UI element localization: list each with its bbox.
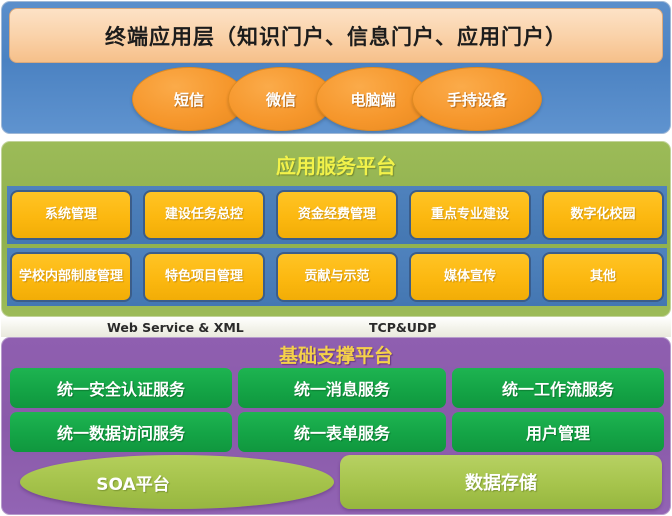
infrastructure-data-storage[interactable]: 数据存储 (340, 455, 662, 509)
service-unified-form[interactable]: 统一表单服务 (238, 412, 446, 452)
channel-wechat-label: 微信 (266, 89, 296, 110)
protocol-web-service-xml: Web Service & XML (107, 320, 244, 335)
module-key-specialty-construction[interactable]: 重点专业建设 (409, 190, 531, 240)
module-label: 贡献与示范 (304, 269, 369, 284)
channel-desktop-label: 电脑端 (350, 89, 395, 110)
channel-handheld[interactable]: 手持设备 (412, 67, 542, 131)
module-system-management[interactable]: 系统管理 (10, 190, 132, 240)
channel-sms-label: 短信 (174, 89, 204, 110)
service-label: 统一工作流服务 (502, 376, 614, 400)
service-label: 统一消息服务 (294, 376, 390, 400)
application-module-row-1: 系统管理 建设任务总控 资金经费管理 重点专业建设 数字化校园 (7, 186, 667, 244)
module-others[interactable]: 其他 (542, 252, 664, 302)
service-unified-workflow[interactable]: 统一工作流服务 (452, 368, 664, 408)
base-platform-title: 基础支撑平台 (2, 341, 670, 368)
service-unified-security-authentication[interactable]: 统一安全认证服务 (10, 368, 232, 408)
base-service-row-2: 统一数据访问服务 统一表单服务 用户管理 (10, 412, 664, 452)
data-storage-label: 数据存储 (465, 469, 537, 495)
module-label: 特色项目管理 (165, 269, 243, 284)
module-label: 学校内部制度管理 (19, 269, 123, 284)
architecture-diagram: 终端应用层（知识门户、信息门户、应用门户） 短信 微信 电脑端 手持设备 应用服… (0, 0, 672, 516)
application-service-platform-section: 应用服务平台 系统管理 建设任务总控 资金经费管理 重点专业建设 数字化校园 学… (1, 141, 671, 317)
service-unified-message[interactable]: 统一消息服务 (238, 368, 446, 408)
infrastructure-row: SOA平台 数据存储 (2, 455, 672, 513)
protocol-band: Web Service & XML TCP&UDP (1, 317, 671, 337)
application-module-row-2: 学校内部制度管理 特色项目管理 贡献与示范 媒体宣传 其他 (7, 248, 667, 306)
channel-ellipse-row: 短信 微信 电脑端 手持设备 (2, 66, 672, 132)
terminal-layer-banner: 终端应用层（知识门户、信息门户、应用门户） (9, 8, 663, 63)
protocol-tcp-udp: TCP&UDP (369, 320, 436, 335)
module-label: 系统管理 (45, 207, 97, 222)
module-label: 建设任务总控 (165, 207, 243, 222)
channel-handheld-label: 手持设备 (447, 89, 507, 110)
module-media-publicity[interactable]: 媒体宣传 (409, 252, 531, 302)
terminal-application-layer-section: 终端应用层（知识门户、信息门户、应用门户） 短信 微信 电脑端 手持设备 (1, 1, 671, 134)
base-service-row-1: 统一安全认证服务 统一消息服务 统一工作流服务 (10, 368, 664, 408)
module-featured-project-management[interactable]: 特色项目管理 (143, 252, 265, 302)
service-label: 统一表单服务 (294, 420, 390, 444)
service-label: 用户管理 (526, 420, 590, 444)
service-label: 统一数据访问服务 (57, 420, 185, 444)
module-label: 资金经费管理 (298, 207, 376, 222)
module-label: 数字化校园 (570, 207, 635, 222)
module-construction-task-control[interactable]: 建设任务总控 (143, 190, 265, 240)
module-internal-system-management[interactable]: 学校内部制度管理 (10, 252, 132, 302)
module-label: 重点专业建设 (431, 207, 509, 222)
terminal-layer-title: 终端应用层（知识门户、信息门户、应用门户） (105, 21, 567, 51)
soa-platform-label: SOA平台 (96, 470, 169, 495)
application-platform-title: 应用服务平台 (2, 150, 670, 179)
module-digital-campus[interactable]: 数字化校园 (542, 190, 664, 240)
service-user-management[interactable]: 用户管理 (452, 412, 664, 452)
service-unified-data-access[interactable]: 统一数据访问服务 (10, 412, 232, 452)
module-contribution-and-demonstration[interactable]: 贡献与示范 (276, 252, 398, 302)
module-label: 其他 (590, 269, 616, 284)
module-fund-expense-management[interactable]: 资金经费管理 (276, 190, 398, 240)
infrastructure-soa-platform[interactable]: SOA平台 (20, 455, 334, 509)
base-support-platform-section: 基础支撑平台 统一安全认证服务 统一消息服务 统一工作流服务 统一数据访问服务 … (1, 337, 671, 515)
service-label: 统一安全认证服务 (57, 376, 185, 400)
module-label: 媒体宣传 (444, 269, 496, 284)
